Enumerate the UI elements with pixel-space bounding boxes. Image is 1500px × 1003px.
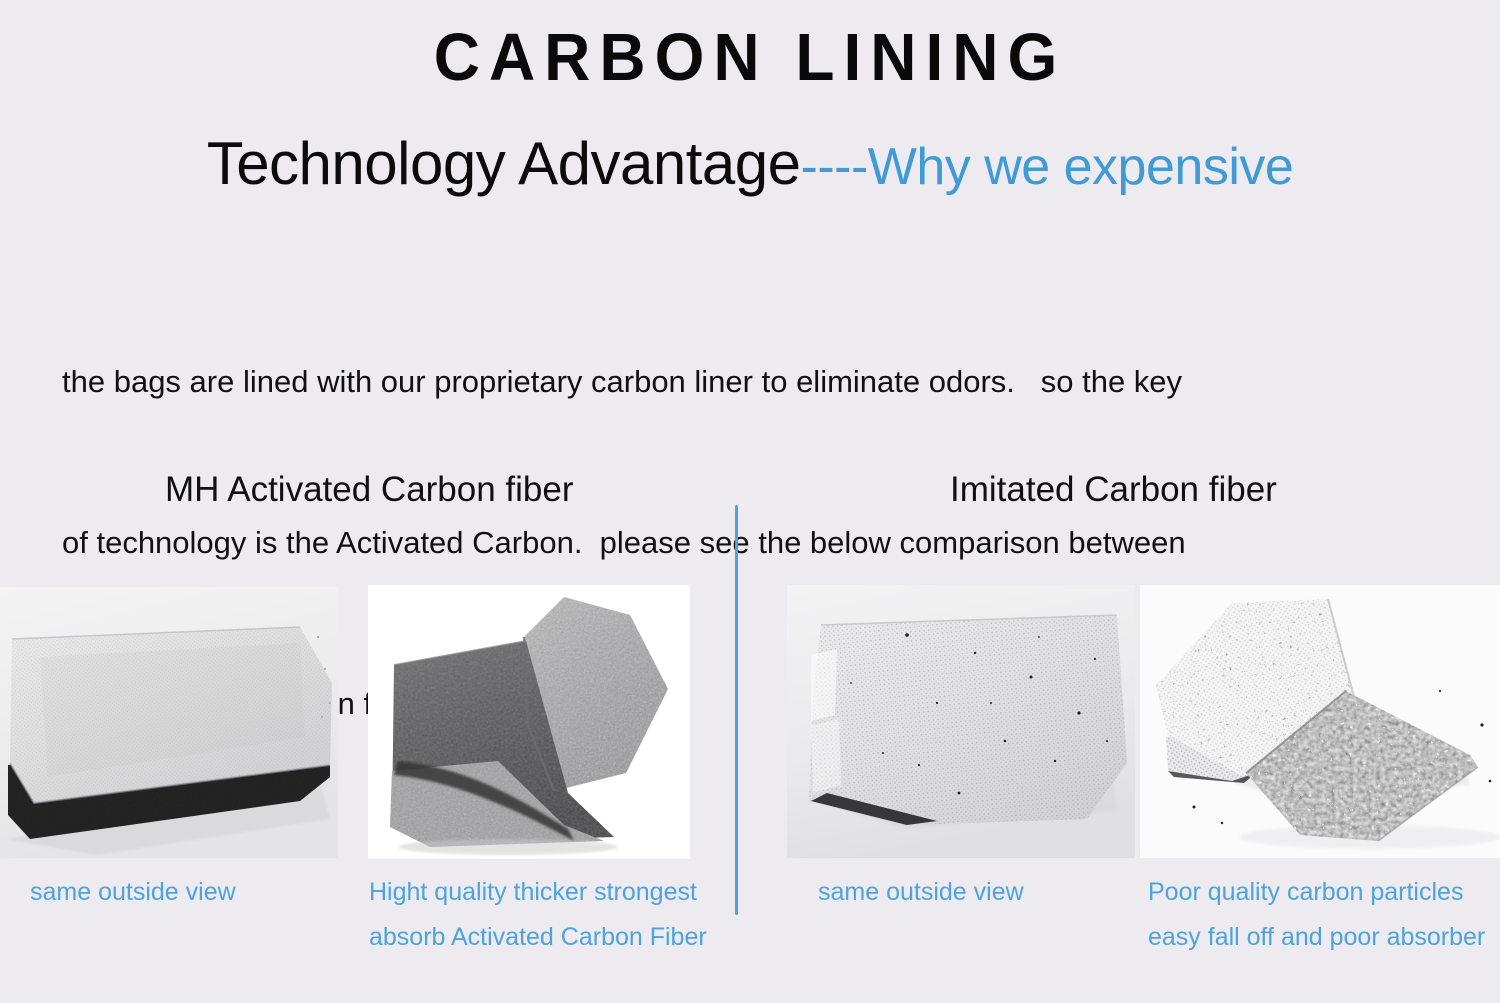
slide-canvas: CARBON LINING Technology Advantage----Wh… [0,0,1500,1003]
photo-mh-folded-illustration [368,585,690,859]
caption-right-quality: Poor quality carbon particles easy fall … [1148,870,1485,959]
photo-mh-carbon-fiber-outside-view [0,587,338,858]
caption-right-quality-line-1: Poor quality carbon particles [1148,870,1485,915]
caption-left-quality-line-2: absorb Activated Carbon Fiber [369,915,707,960]
headline-accent: ----Why we expensive [801,138,1294,196]
headline-main: Technology Advantage [207,130,801,197]
caption-left-quality: Hight quality thicker strongest absorb A… [369,870,707,959]
vertical-divider [735,505,738,915]
photo-imitated-carbon-fiber-outside-view [787,585,1135,858]
caption-right-outside-view: same outside view [818,870,1024,915]
photo-mh-carbon-fiber-folded [368,585,690,859]
photo-imitated-carbon-fiber-folded [1140,585,1500,858]
body-line-1: the bags are lined with our proprietary … [62,355,1462,409]
photo-imitated-folded-illustration [1140,585,1500,858]
photo-imitated-outside-illustration [787,585,1135,858]
caption-left-outside-view: same outside view [30,870,236,915]
column-header-mh-activated-carbon-fiber: MH Activated Carbon fiber [165,470,574,510]
caption-left-outside-line: same outside view [30,870,236,915]
photo-mh-outside-illustration [0,587,338,858]
body-line-2: of technology is the Activated Carbon. p… [62,516,1462,570]
caption-left-quality-line-1: Hight quality thicker strongest [369,870,707,915]
caption-right-outside-line: same outside view [818,870,1024,915]
headline: Technology Advantage----Why we expensive [0,134,1500,194]
caption-right-quality-line-2: easy fall off and poor absorber [1148,915,1485,960]
page-title: CARBON LINING [0,18,1500,96]
column-header-imitated-carbon-fiber: Imitated Carbon fiber [950,470,1277,510]
